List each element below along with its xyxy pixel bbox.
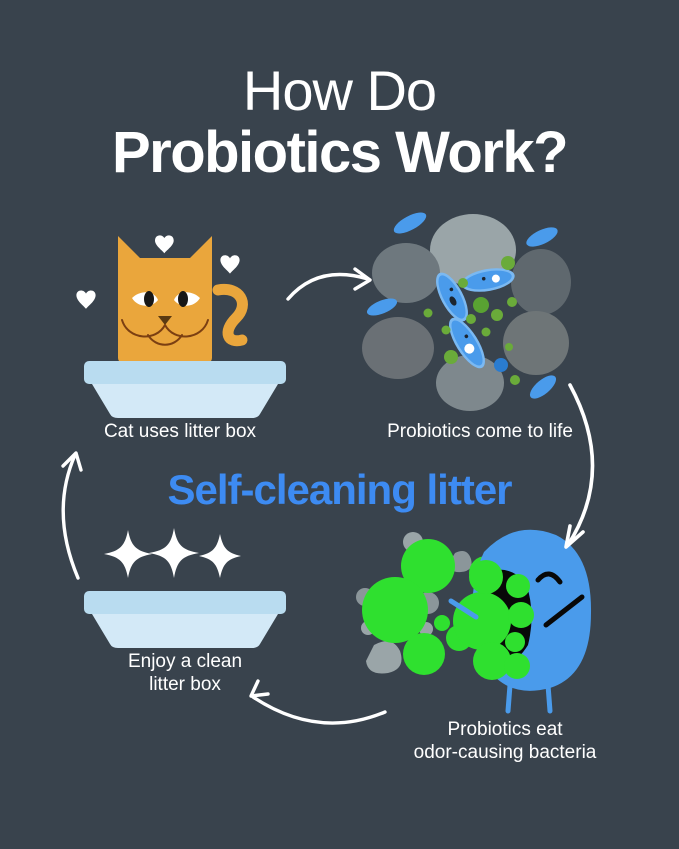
caption-eat-line-2: odor-causing bacteria (360, 741, 650, 764)
caption-cat-uses-litter-box: Cat uses litter box (35, 420, 325, 443)
arrow-cat-to-probiotics (288, 269, 370, 299)
caption-enjoy-clean-litter-box: Enjoy a clean litter box (40, 650, 330, 696)
slogan-self-cleaning-litter: Self-cleaning litter (0, 466, 679, 514)
caption-enjoy-line-2: litter box (40, 673, 330, 696)
infographic-canvas: How Do Probiotics Work? (0, 0, 679, 849)
caption-probiotics-eat-bacteria: Probiotics eat odor-causing bacteria (360, 718, 650, 764)
caption-probiotics-come-to-life: Probiotics come to life (330, 420, 630, 443)
caption-eat-line-1: Probiotics eat (360, 718, 650, 741)
caption-enjoy-line-1: Enjoy a clean (40, 650, 330, 673)
